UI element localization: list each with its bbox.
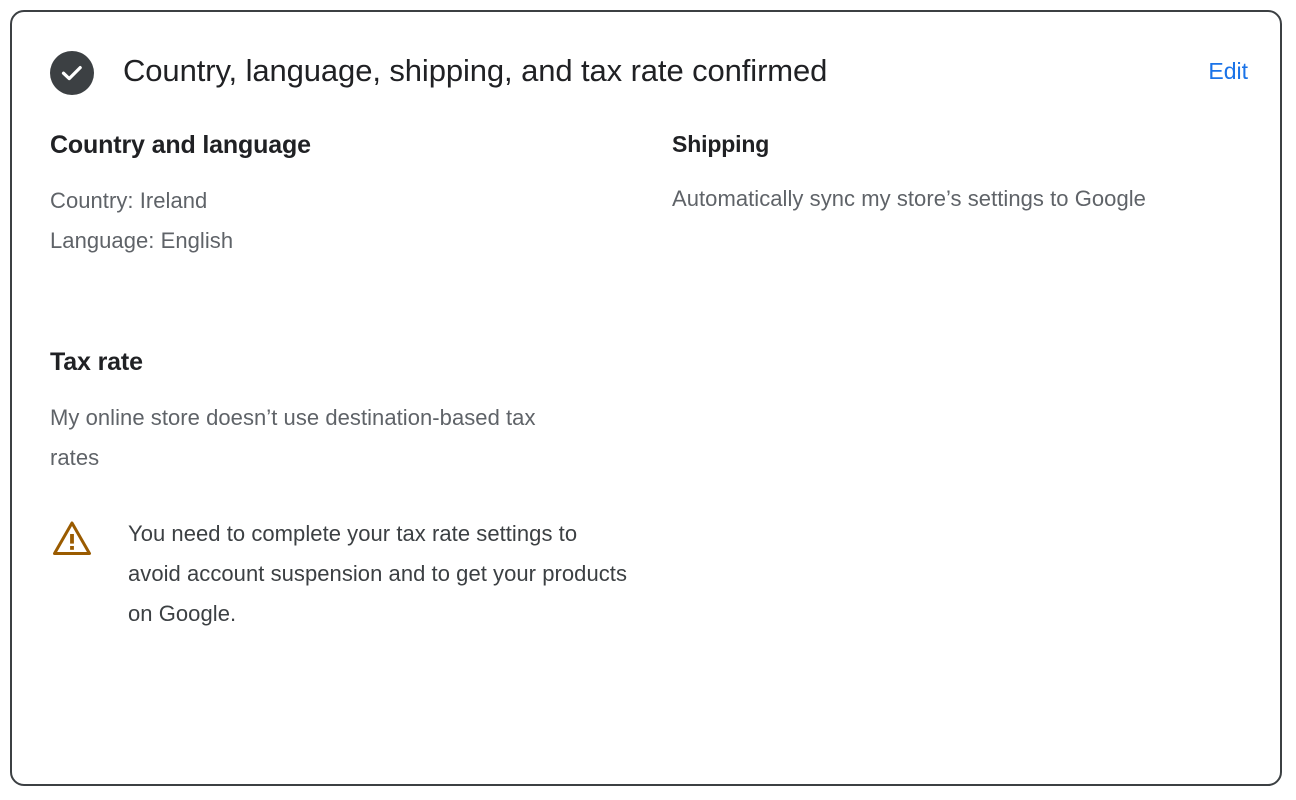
shipping-section: Shipping Automatically sync my store’s s… bbox=[672, 130, 1252, 219]
country-language-heading: Country and language bbox=[50, 130, 652, 160]
country-language-section: Country and language Country: Ireland La… bbox=[50, 130, 652, 261]
warning-message: You need to complete your tax rate setti… bbox=[128, 514, 628, 634]
shipping-heading: Shipping bbox=[672, 130, 1252, 158]
page-title: Country, language, shipping, and tax rat… bbox=[123, 52, 827, 90]
shipping-value: Automatically sync my store’s settings t… bbox=[672, 178, 1252, 219]
card-body: Country and language Country: Ireland La… bbox=[12, 130, 1280, 784]
country-value: Country: Ireland bbox=[50, 181, 652, 221]
tax-rate-value: My online store doesn’t use destination-… bbox=[50, 398, 590, 478]
confirmation-card: Country, language, shipping, and tax rat… bbox=[10, 10, 1282, 786]
check-circle-icon bbox=[50, 51, 94, 95]
card-header: Country, language, shipping, and tax rat… bbox=[12, 12, 1280, 130]
tax-rate-warning: You need to complete your tax rate setti… bbox=[50, 514, 652, 634]
edit-button[interactable]: Edit bbox=[1204, 51, 1252, 91]
country-language-details: Country: Ireland Language: English bbox=[50, 181, 652, 261]
tax-rate-section: Tax rate My online store doesn’t use des… bbox=[50, 347, 652, 634]
right-column: Shipping Automatically sync my store’s s… bbox=[672, 130, 1252, 784]
tax-rate-heading: Tax rate bbox=[50, 347, 652, 377]
left-column: Country and language Country: Ireland La… bbox=[50, 130, 672, 784]
warning-triangle-icon bbox=[50, 516, 94, 560]
language-value: Language: English bbox=[50, 221, 652, 261]
